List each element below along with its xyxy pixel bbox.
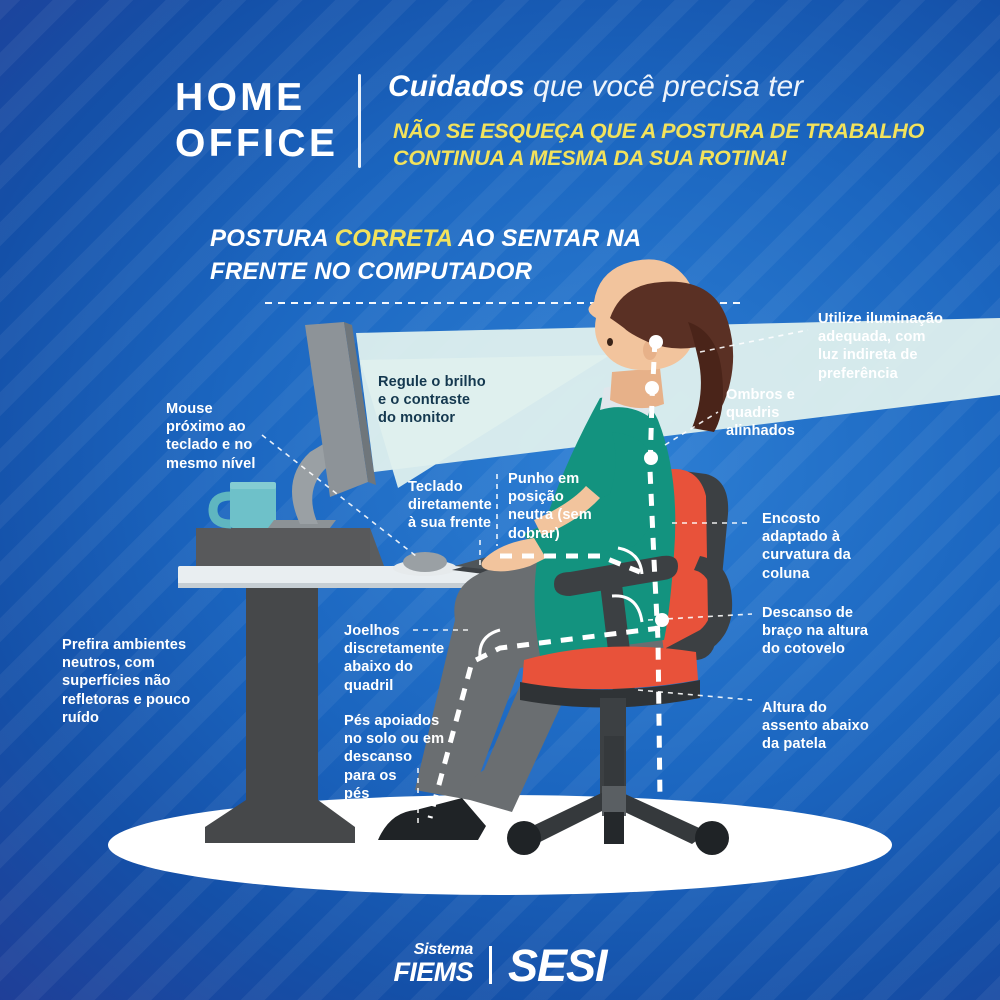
mug-rim bbox=[230, 482, 276, 489]
monitor-riser-front bbox=[196, 528, 370, 566]
annotation-keyboard: Teclado diretamente à sua frente bbox=[408, 478, 492, 533]
annotation-mouse: Mouse próximo ao teclado e no mesmo níve… bbox=[166, 400, 256, 473]
footer-divider bbox=[489, 946, 492, 984]
workstation-illustration bbox=[0, 0, 1000, 1000]
fiems-sistema-label: Sistema bbox=[393, 942, 473, 958]
chair-center-column bbox=[602, 786, 626, 816]
spine-point-hip bbox=[644, 451, 658, 465]
floor-ellipse bbox=[108, 795, 892, 895]
annotation-backrest: Encosto adaptado à curvatura da coluna bbox=[762, 510, 851, 583]
person-eye bbox=[607, 338, 613, 346]
chair-center-column-lower bbox=[604, 812, 624, 844]
spine-point-neck bbox=[645, 381, 659, 395]
chair-caster-right bbox=[695, 821, 729, 855]
chair-caster-left bbox=[507, 821, 541, 855]
fiems-logo: Sistema FIEMS bbox=[393, 942, 473, 986]
spine-point-head bbox=[649, 335, 663, 349]
annotation-wrist: Punho em posição neutra (sem dobrar) bbox=[508, 470, 592, 543]
chair-cylinder-lower bbox=[604, 736, 624, 794]
annotation-monitor: Regule o brilho e o contraste do monitor bbox=[378, 373, 486, 428]
mouse-icon bbox=[403, 552, 447, 572]
infographic-poster: HOME OFFICE Cuidados que você precisa te… bbox=[0, 0, 1000, 1000]
annotation-lighting: Utilize iluminação adequada, com luz ind… bbox=[818, 310, 943, 383]
mug-handle bbox=[213, 496, 231, 524]
annotation-seat-height: Altura do assento abaixo da patela bbox=[762, 699, 869, 754]
annotation-feet: Pés apoiados no solo ou em descanso para… bbox=[344, 712, 444, 803]
annotation-armrest: Descanso de braço na altura do cotovelo bbox=[762, 604, 868, 659]
annotation-environment: Prefira ambientes neutros, com superfíci… bbox=[62, 636, 190, 727]
annotation-shoulders: Ombros e quadris alinhados bbox=[726, 386, 795, 441]
footer-logos: Sistema FIEMS SESI bbox=[0, 942, 1000, 986]
fiems-name-label: FIEMS bbox=[393, 959, 473, 986]
spine-point-seat bbox=[655, 613, 669, 627]
annotation-knees: Joelhos discretamente abaixo do quadril bbox=[344, 622, 444, 695]
sesi-logo: SESI bbox=[508, 943, 607, 988]
